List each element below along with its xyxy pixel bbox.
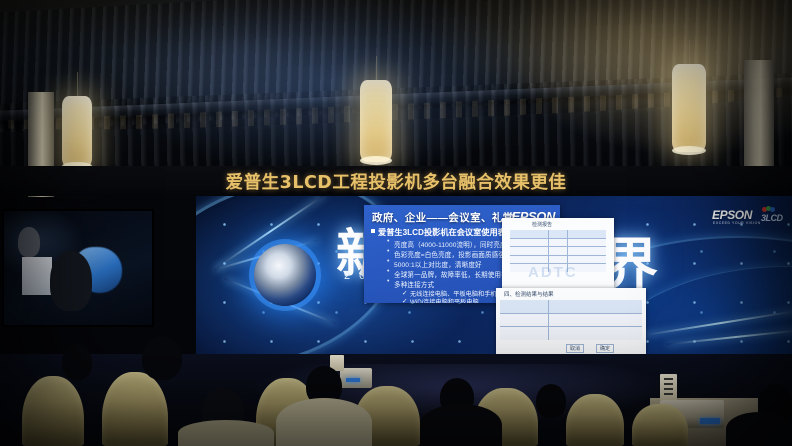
lcd-corner-logo: 3LCD bbox=[761, 213, 783, 223]
audience-chair bbox=[632, 404, 688, 446]
document-caption-lower: 四、检测结果与结果 bbox=[504, 290, 554, 298]
slide-title: 政府、企业——会议室、礼堂 bbox=[372, 210, 514, 225]
audience-head bbox=[536, 384, 566, 418]
control-panel-button[interactable] bbox=[664, 388, 673, 390]
laptop-indicator bbox=[346, 378, 360, 382]
glowing-orb bbox=[254, 244, 316, 306]
secondary-screen-content bbox=[4, 211, 152, 325]
audience-shoulders bbox=[726, 412, 792, 446]
document-watermark: ADTC bbox=[528, 264, 578, 281]
secondary-projection-screen bbox=[2, 209, 154, 327]
pendant-lamp-2-rim bbox=[360, 156, 392, 165]
banner-title: 爱普生3LCD工程投影机多台融合效果更佳 bbox=[0, 169, 792, 194]
document-caption-upper: 检测报告 bbox=[532, 221, 552, 228]
main-projection-screen: 新 2 0 界 会 EPSON EXCEED YOUR VISION 3LCD … bbox=[196, 196, 792, 354]
control-panel-button[interactable] bbox=[664, 383, 673, 385]
document-button-confirm[interactable]: 确定 bbox=[596, 344, 614, 353]
slide-bullet: 5000:1以上对比度，清晰度好 bbox=[394, 259, 482, 269]
audience-chair bbox=[102, 372, 168, 446]
main-screen-content: 新 2 0 界 会 EPSON EXCEED YOUR VISION 3LCD … bbox=[196, 196, 792, 354]
document-overlay-upper: 检测报告 ADTC bbox=[502, 218, 614, 288]
slide-subtitle: 爱普生3LCD投影机在会议室使用表现 bbox=[378, 226, 514, 238]
side-screen-person-center bbox=[50, 251, 92, 311]
side-screen-person-left bbox=[18, 227, 40, 257]
control-panel-button[interactable] bbox=[664, 393, 673, 395]
slide-bullet: 色彩亮度=白色亮度，投影画面质感强 bbox=[394, 249, 505, 259]
lcd-logo-dot-blue bbox=[770, 207, 775, 212]
audience-head bbox=[142, 336, 182, 380]
slide-bullet: 多种连接方式 bbox=[394, 279, 434, 289]
audience-chair bbox=[566, 394, 624, 446]
slide-sub-item: WiDi连接电脑和平板电脑 bbox=[410, 297, 479, 303]
document-button-cancel[interactable]: 取消 bbox=[566, 344, 584, 353]
pendant-lamp-2 bbox=[360, 80, 392, 162]
audience-shoulders-lit bbox=[178, 420, 274, 446]
hall-pillar-right bbox=[744, 60, 774, 180]
audience-head bbox=[62, 344, 92, 380]
pendant-lamp-3 bbox=[672, 64, 706, 152]
side-screen-laptop bbox=[22, 257, 52, 295]
document-table-lower bbox=[500, 300, 642, 340]
ceiling-blue-glow bbox=[120, 0, 540, 180]
audience-shoulders-lit bbox=[276, 398, 372, 446]
projector-status-display bbox=[700, 418, 720, 424]
stage-banner: 爱普生3LCD工程投影机多台融合效果更佳 bbox=[0, 166, 792, 196]
document-overlay-lower: 四、检测结果与结果 取消 确定 bbox=[496, 288, 646, 354]
epson-corner-tagline: EXCEED YOUR VISION bbox=[713, 221, 761, 225]
pendant-lamp-3-rim bbox=[672, 146, 706, 155]
pendant-lamp-1 bbox=[62, 96, 92, 168]
audience-shoulders bbox=[420, 404, 502, 446]
audience-chair bbox=[22, 376, 84, 446]
conference-hall-photo: 爱普生3LCD工程投影机多台融合效果更佳 新 2 0 界 会 EPSON EXC… bbox=[0, 0, 792, 446]
control-panel-button[interactable] bbox=[664, 378, 673, 380]
epson-corner-logo: EPSON bbox=[712, 208, 752, 222]
